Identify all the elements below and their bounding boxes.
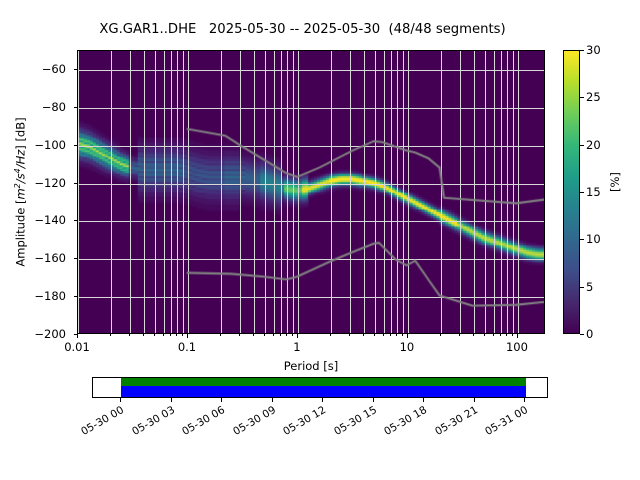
x-axis-tick — [163, 334, 164, 336]
colorbar-tick-label: 20 — [586, 138, 601, 152]
noise-model-curves-canvas — [78, 51, 544, 333]
ppsd-plot-area[interactable] — [77, 50, 545, 334]
x-axis-tick — [280, 334, 281, 336]
x-axis-tick — [484, 334, 485, 336]
colorbar-tick — [580, 192, 584, 193]
x-axis-tick-label: 10 — [400, 340, 415, 354]
timeline-tick-label: 05-30 06 — [171, 404, 227, 443]
x-axis-tick — [187, 334, 188, 338]
x-axis-tick — [517, 334, 518, 338]
x-axis-tick — [493, 334, 494, 336]
y-axis-label: Amplitude [m2/s4/Hz] [dB] — [13, 117, 28, 266]
page-title: XG.GAR1..DHE 2025-05-30 -- 2025-05-30 (4… — [0, 22, 605, 37]
timeline-tick-label: 05-30 03 — [120, 404, 176, 443]
timeline-tick — [373, 398, 374, 402]
colorbar-tick-label: 10 — [586, 232, 601, 246]
y-axis-tick-label: −100 — [0, 138, 66, 152]
timeline-tick-label: 05-30 18 — [373, 404, 429, 443]
x-axis-tick-label: 1 — [293, 340, 300, 354]
y-axis-tick — [74, 145, 78, 146]
x-axis-tick — [220, 334, 221, 336]
x-axis-tick — [143, 334, 144, 336]
colorbar-tick — [580, 145, 584, 146]
timeline-tick — [120, 398, 121, 402]
y-axis-tick-label: −60 — [0, 62, 66, 76]
timeline-tick-label: 05-30 21 — [423, 404, 479, 443]
x-axis-tick — [402, 334, 403, 336]
colorbar-tick — [580, 239, 584, 240]
timeline-bar-data-availability — [121, 378, 525, 386]
colorbar-tick — [580, 97, 584, 98]
x-axis-tick — [500, 334, 501, 336]
y-axis-tick — [74, 69, 78, 70]
x-axis-tick-label: 0.1 — [178, 340, 196, 354]
colorbar-tick-label: 15 — [586, 185, 601, 199]
colorbar-tick — [580, 50, 584, 51]
x-axis-tick — [292, 334, 293, 336]
x-axis-tick — [239, 334, 240, 336]
x-axis-tick — [182, 334, 183, 336]
y-axis-tick — [74, 296, 78, 297]
y-axis-tick — [74, 220, 78, 221]
colorbar-tick — [580, 287, 584, 288]
timeline-bar-used-segments — [121, 386, 525, 397]
x-axis-tick — [286, 334, 287, 336]
x-axis-tick — [77, 334, 78, 338]
x-axis-tick — [273, 334, 274, 336]
y-axis-tick-label: −140 — [0, 213, 66, 227]
x-axis-tick — [363, 334, 364, 336]
x-axis-tick — [506, 334, 507, 336]
timeline-tick — [423, 398, 424, 402]
timeline-tick — [272, 398, 273, 402]
colorbar-tick — [580, 334, 584, 335]
x-axis-tick — [154, 334, 155, 336]
y-axis-tick-label: −160 — [0, 251, 66, 265]
coverage-timeline[interactable] — [92, 377, 548, 398]
x-axis-tick — [176, 334, 177, 336]
colorbar-tick-label: 5 — [586, 280, 593, 294]
x-axis-tick — [129, 334, 130, 336]
timeline-tick — [171, 398, 172, 402]
x-axis-tick — [440, 334, 441, 336]
colorbar-tick-label: 25 — [586, 90, 601, 104]
x-axis-tick — [512, 334, 513, 336]
x-axis-tick — [170, 334, 171, 336]
ppsd-figure: XG.GAR1..DHE 2025-05-30 -- 2025-05-30 (4… — [0, 0, 640, 480]
timeline-tick-label: 05-30 15 — [322, 404, 378, 443]
x-axis-tick — [264, 334, 265, 336]
timeline-tick-label: 05-30 09 — [221, 404, 277, 443]
y-axis-tick-label: −120 — [0, 176, 66, 190]
x-axis-tick — [459, 334, 460, 336]
y-axis-tick-label: −200 — [0, 327, 66, 341]
timeline-tick — [221, 398, 222, 402]
x-axis-tick — [407, 334, 408, 338]
y-axis-tick-label: −80 — [0, 100, 66, 114]
y-axis-tick — [74, 183, 78, 184]
y-axis-tick-label: −180 — [0, 289, 66, 303]
x-axis-tick — [297, 334, 298, 338]
coverage-timeline-bars — [93, 378, 547, 397]
colorbar-tick-label: 30 — [586, 43, 601, 57]
timeline-tick — [322, 398, 323, 402]
y-axis-tick — [74, 107, 78, 108]
timeline-tick-label: 05-30 12 — [272, 404, 328, 443]
x-axis-tick — [396, 334, 397, 336]
x-axis-tick — [110, 334, 111, 336]
x-axis-tick — [473, 334, 474, 336]
x-axis-tick — [253, 334, 254, 336]
x-axis-tick-label: 0.01 — [64, 340, 90, 354]
x-axis-tick — [374, 334, 375, 336]
colorbar-tick-label: 0 — [586, 327, 593, 341]
x-axis-tick — [390, 334, 391, 336]
timeline-tick — [474, 398, 475, 402]
timeline-tick — [524, 398, 525, 402]
x-axis-tick — [330, 334, 331, 336]
timeline-tick-label: 05-31 00 — [474, 404, 530, 443]
y-axis-tick — [74, 258, 78, 259]
x-axis-tick-label: 100 — [506, 340, 528, 354]
x-axis-tick — [349, 334, 350, 336]
x-axis-tick — [383, 334, 384, 336]
timeline-tick-label: 05-30 00 — [70, 404, 126, 443]
colorbar-label: [%] — [608, 172, 622, 192]
colorbar[interactable] — [563, 50, 580, 334]
x-axis-label: Period [s] — [77, 359, 545, 373]
